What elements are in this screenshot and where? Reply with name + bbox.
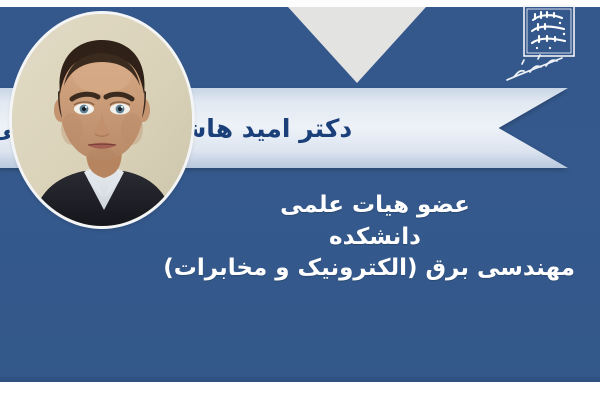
bottom-white-margin bbox=[0, 382, 600, 400]
university-logo bbox=[502, 4, 592, 90]
description-block: عضو هیات علمی دانشکده مهندسی برق (الکترو… bbox=[175, 190, 575, 285]
description-line-1: عضو هیات علمی bbox=[175, 190, 575, 222]
portrait-photo bbox=[12, 14, 192, 226]
description-line-3: مهندسی برق (الکترونیک و مخابرات) bbox=[175, 253, 575, 285]
announcement-poster: دکتر امید هاشمی پور تفرشی bbox=[0, 0, 600, 400]
description-line-2: دانشکده bbox=[175, 222, 575, 254]
portrait-image bbox=[12, 14, 192, 226]
